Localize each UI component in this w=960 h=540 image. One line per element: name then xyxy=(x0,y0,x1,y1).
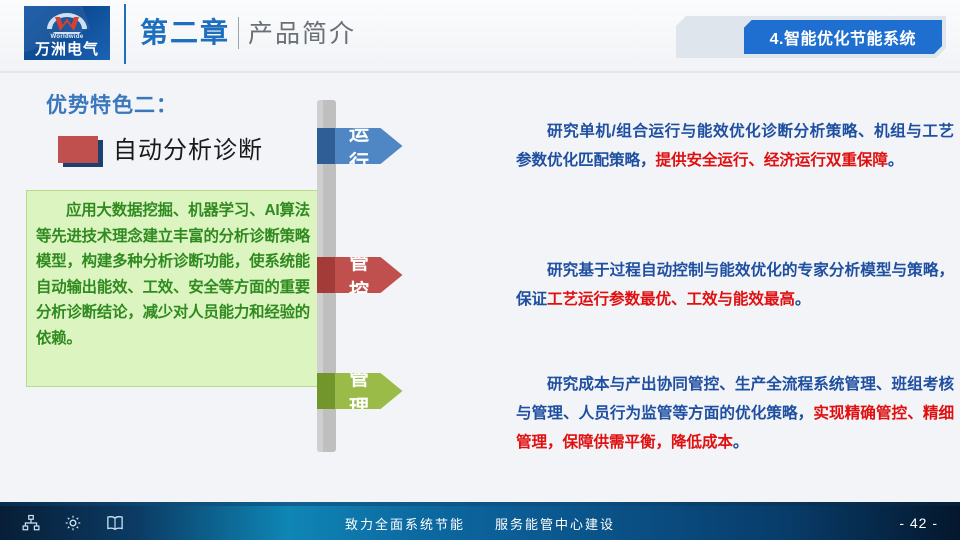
description-highlight: 提供安全运行、经济运行双重保障 xyxy=(655,152,887,169)
footer-slogan-right: 服务能管中心建设 xyxy=(495,514,615,533)
w-logo-mark-icon xyxy=(43,11,91,35)
description-plain-end: 。 xyxy=(795,291,811,308)
chapter-subtitle: 产品简介 xyxy=(248,18,356,50)
layer-description-process: 研究基于过程自动控制与能效优化的专家分析模型与策略，保证工艺运行参数最优、工效与… xyxy=(516,256,954,314)
chapter-title: 第二章 xyxy=(140,16,230,50)
slide-canvas: Worldwide 万洲电气 第二章 产品简介 4.智能优化节能系统 优势特色二… xyxy=(0,0,960,540)
company-logo: Worldwide 万洲电气 xyxy=(24,6,110,60)
slide-header: Worldwide 万洲电气 第二章 产品简介 4.智能优化节能系统 xyxy=(0,0,960,72)
header-vertical-divider xyxy=(124,4,126,64)
description-plain-end: 。 xyxy=(733,434,749,451)
layer-description-equipment: 研究单机/组合运行与能效优化诊断分析策略、机组与工艺参数优化匹配策略，提供安全运… xyxy=(516,117,954,175)
slide-footer: 致力全面系统节能 服务能管中心建设 - 42 - xyxy=(0,506,960,540)
description-callout-text: 应用大数据挖掘、机器学习、AI算法等先进技术理念建立丰富的分析诊断策略模型，构建… xyxy=(36,198,310,352)
layer-description-production: 研究成本与产出协同管控、生产全流程系统管理、班组考核与管理、人员行为监管等方面的… xyxy=(516,370,954,457)
page-number: - 42 - xyxy=(899,506,938,540)
description-highlight: 工艺运行参数最优、工效与能效最高 xyxy=(547,291,795,308)
header-bottom-rule xyxy=(0,71,960,73)
description-callout-box: 应用大数据挖掘、机器学习、AI算法等先进技术理念建立丰富的分析诊断策略模型，构建… xyxy=(26,190,318,387)
footer-slogan-left: 致力全面系统节能 xyxy=(345,514,465,533)
footer-slogan: 致力全面系统节能 服务能管中心建设 xyxy=(0,506,960,540)
description-plain-end: 。 xyxy=(888,152,904,169)
layer-tab-label: 生产管理层面 xyxy=(335,373,403,409)
logo-english-text: Worldwide xyxy=(24,34,110,40)
feature-marker-square xyxy=(58,136,98,163)
feature-name: 自动分析诊断 xyxy=(113,135,263,167)
logo-chinese-text: 万洲电气 xyxy=(24,41,110,59)
section-badge: 4.智能优化节能系统 xyxy=(744,20,942,54)
layer-tab-label: 设备运行层面 xyxy=(335,128,403,164)
advantage-title: 优势特色二： xyxy=(46,92,178,120)
title-separator xyxy=(238,17,239,49)
layer-tab-label: 工艺管控层面 xyxy=(335,257,403,293)
